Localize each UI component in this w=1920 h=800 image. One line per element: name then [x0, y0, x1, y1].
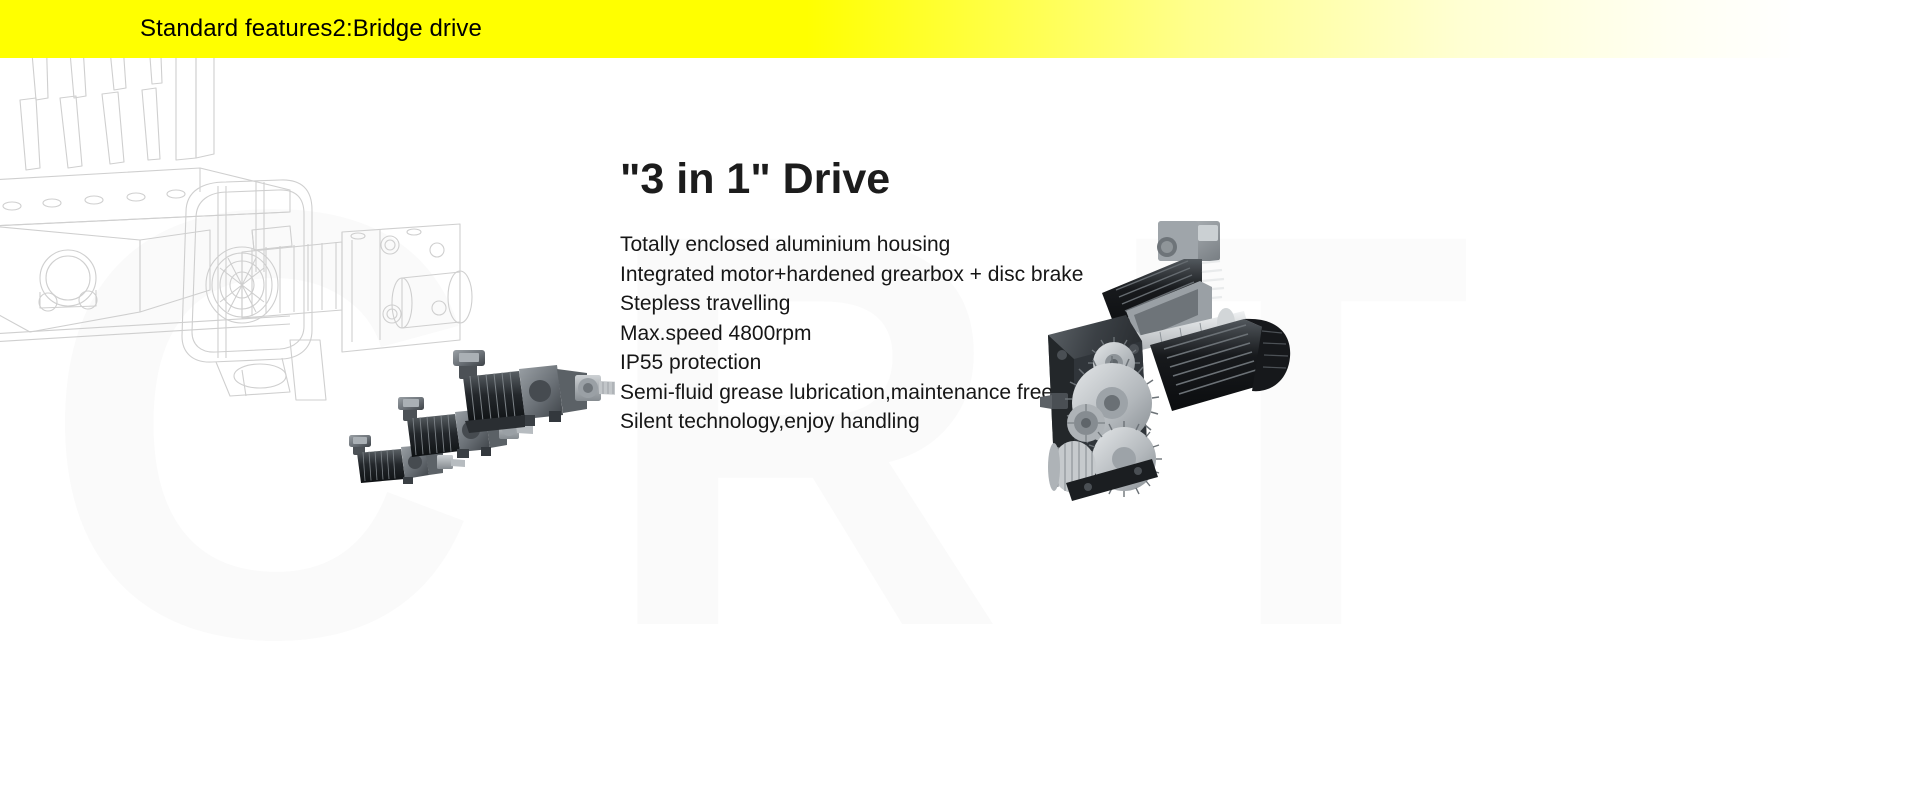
header-bar: Standard features2:Bridge drive	[0, 0, 1920, 58]
gearbox-cutaway-render	[1030, 215, 1340, 505]
page-title: "3 in 1" Drive	[620, 155, 1180, 204]
header-title: Standard features2:Bridge drive	[140, 0, 482, 58]
slide-canvas: C R T	[0, 0, 1920, 800]
geared-motor-family-photo	[345, 335, 615, 545]
